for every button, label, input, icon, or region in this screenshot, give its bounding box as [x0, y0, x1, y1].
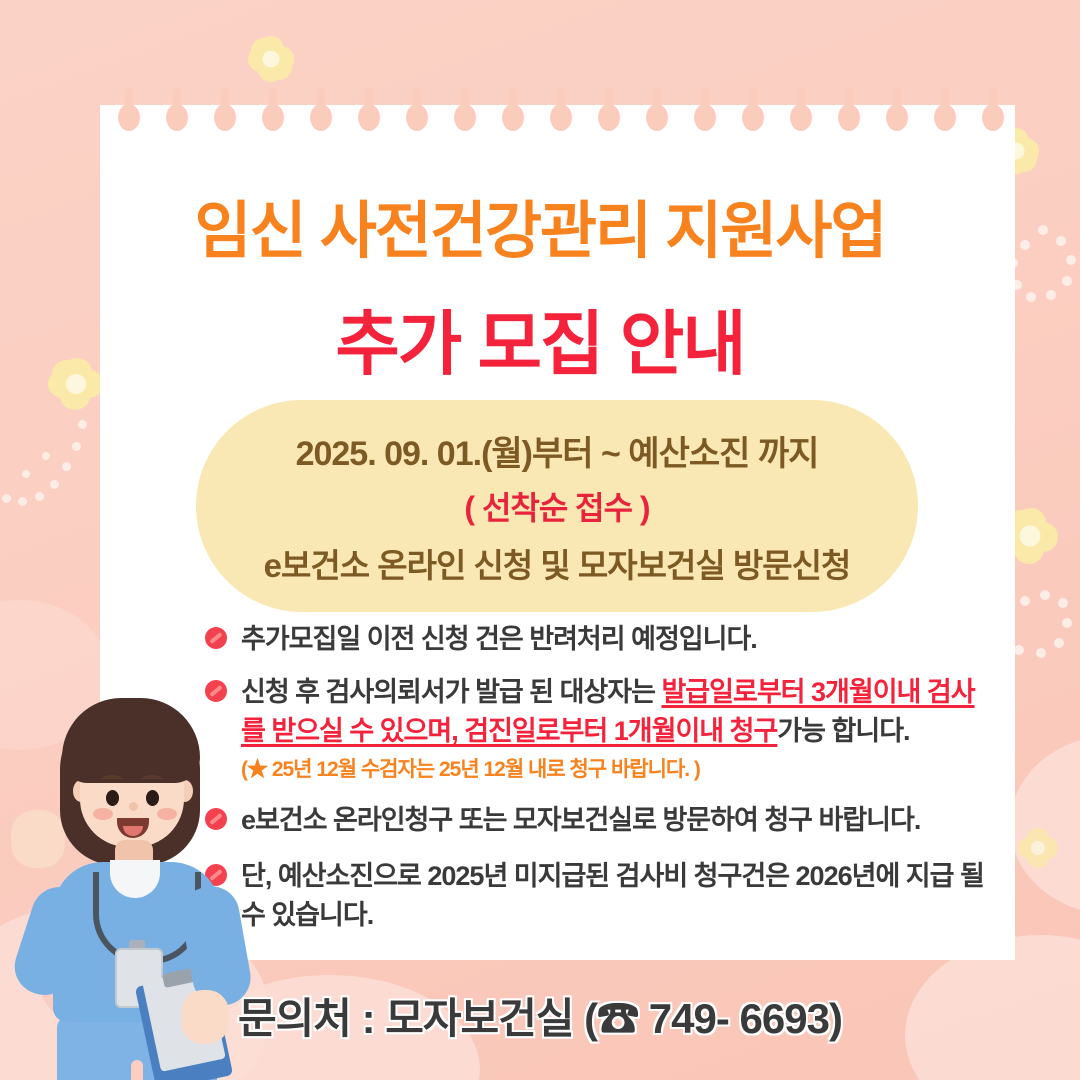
- flower-icon: [248, 36, 294, 82]
- notice-list: 추가모집일 이전 신청 건은 반려처리 예정입니다. 신청 후 검사의뢰서가 발…: [205, 620, 995, 949]
- nurse-hair-top: [62, 698, 200, 783]
- nurse-illustration: [5, 690, 255, 1080]
- list-item: 단, 예산소진으로 2025년 미지급된 검사비 청구건은 2026년에 지급 …: [205, 857, 995, 935]
- bullet-icon: [205, 627, 227, 649]
- nurse-brow-left: [101, 775, 123, 785]
- nurse-fist: [11, 810, 65, 868]
- list-item: 신청 후 검사의뢰서가 발급 된 대상자는 발급일로부터 3개월이내 검사를 받…: [205, 673, 995, 783]
- nurse-right-hand: [181, 990, 229, 1044]
- notice-text: e보건소 온라인청구 또는 모자보건실로 방문하여 청구 바랍니다.: [241, 801, 995, 840]
- notice-sub-note: (★ 25년 12월 수검자는 25년 12월 내로 청구 바랍니다. ): [241, 753, 995, 783]
- notice-text: 신청 후 검사의뢰서가 발급 된 대상자는 발급일로부터 3개월이내 검사를 받…: [241, 673, 995, 751]
- pin-row: [100, 88, 1015, 148]
- notice-segment: 단, 예산소진으로 2025년 미지급된 검사비 청구건은 2026년에 지급 …: [241, 861, 984, 930]
- nurse-cheek-left: [93, 808, 113, 820]
- nurse-nose: [129, 802, 138, 811]
- schedule-order-note: ( 선착순 접수 ): [464, 483, 649, 529]
- poster-canvas: 임신 사전건강관리 지원사업 추가 모집 안내 2025. 09. 01.(월)…: [0, 0, 1080, 1080]
- notice-text: 추가모집일 이전 신청 건은 반려처리 예정입니다.: [241, 620, 995, 659]
- notice-segment: 추가모집일 이전 신청 건은 반려처리 예정입니다.: [241, 624, 757, 654]
- poster-title-line1: 임신 사전건강관리 지원사업: [0, 180, 1080, 270]
- flower-icon: [1018, 828, 1058, 868]
- list-item: 추가모집일 이전 신청 건은 반려처리 예정입니다.: [205, 620, 995, 659]
- nurse-eye-left: [106, 790, 119, 806]
- notice-segment: 가능 합니다.: [777, 716, 909, 746]
- schedule-apply-method: e보건소 온라인 신청 및 모자보건실 방문신청: [264, 539, 851, 587]
- schedule-period: 2025. 09. 01.(월)부터 ~ 예산소진 까지: [296, 426, 819, 475]
- notice-segment: e보건소 온라인청구 또는 모자보건실로 방문하여 청구 바랍니다.: [241, 805, 920, 835]
- nurse-cheek-right: [157, 808, 177, 820]
- notice-segment: 신청 후 검사의뢰서가 발급 된 대상자는: [241, 677, 661, 707]
- nurse-leg-gap: [131, 1060, 143, 1080]
- notice-text: 단, 예산소진으로 2025년 미지급된 검사비 청구건은 2026년에 지급 …: [241, 857, 995, 935]
- schedule-box: 2025. 09. 01.(월)부터 ~ 예산소진 까지 ( 선착순 접수 ) …: [196, 400, 918, 612]
- cloud-icon: [1010, 735, 1080, 915]
- list-item: e보건소 온라인청구 또는 모자보건실로 방문하여 청구 바랍니다.: [205, 801, 995, 840]
- nurse-brow-right: [141, 775, 163, 785]
- poster-title-line2: 추가 모집 안내: [0, 288, 1080, 389]
- nurse-eye-right: [146, 790, 159, 806]
